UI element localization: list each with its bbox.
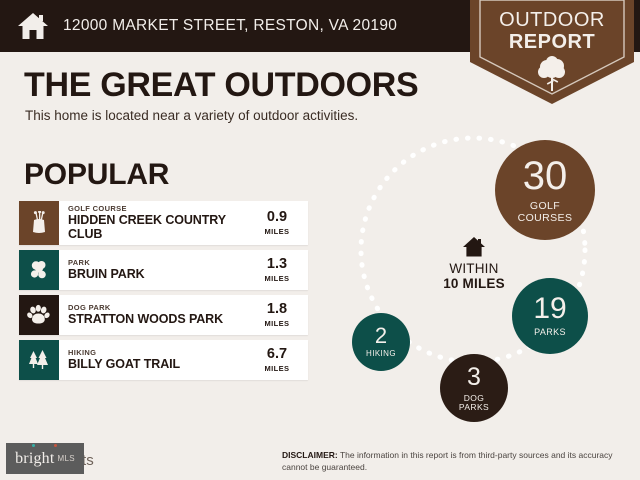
tree-icon bbox=[536, 56, 568, 92]
home-icon bbox=[409, 236, 539, 258]
list-item-distance-unit: MILES bbox=[265, 227, 290, 236]
golf-bag-icon bbox=[28, 211, 50, 235]
bubble-dog-parks[interactable]: 3 DOG PARKS bbox=[440, 354, 508, 422]
bubble-value: 30 bbox=[523, 156, 568, 196]
list-item[interactable]: HIKING BILLY GOAT TRAIL 6.7 MILES bbox=[19, 340, 308, 380]
list-item-body: DOG PARK STRATTON WOODS PARK bbox=[59, 295, 250, 335]
list-item-icon-tile bbox=[19, 295, 59, 335]
bubble-label-line-1: HIKING bbox=[366, 350, 396, 358]
bright-mls-logo: bright MLS bbox=[6, 443, 84, 474]
list-item-distance: 1.8 MILES bbox=[250, 295, 308, 335]
bubble-value: 2 bbox=[375, 325, 387, 347]
list-item[interactable]: PARK BRUIN PARK 1.3 MILES bbox=[19, 250, 308, 290]
bubble-golf-courses[interactable]: 30 GOLF COURSES bbox=[495, 140, 595, 240]
list-item-category: PARK bbox=[68, 259, 250, 267]
list-item-name: BRUIN PARK bbox=[68, 268, 250, 282]
bubble-label-line-2: COURSES bbox=[518, 213, 573, 224]
list-item-name: HIDDEN CREEK COUNTRY CLUB bbox=[68, 214, 250, 241]
list-item-body: HIKING BILLY GOAT TRAIL bbox=[59, 340, 250, 380]
page-subtitle: This home is located near a variety of o… bbox=[25, 108, 358, 123]
list-item-body: PARK BRUIN PARK bbox=[59, 250, 250, 290]
bubble-value: 19 bbox=[533, 294, 566, 324]
list-item-distance-value: 1.3 bbox=[267, 257, 287, 272]
list-item-icon-tile bbox=[19, 340, 59, 380]
list-item-category: DOG PARK bbox=[68, 304, 250, 312]
popular-list: GOLF COURSE HIDDEN CREEK COUNTRY CLUB 0.… bbox=[19, 201, 308, 385]
bubble-label-line-1: GOLF bbox=[530, 201, 560, 212]
list-item[interactable]: DOG PARK STRATTON WOODS PARK 1.8 MILES bbox=[19, 295, 308, 335]
list-item[interactable]: GOLF COURSE HIDDEN CREEK COUNTRY CLUB 0.… bbox=[19, 201, 308, 245]
disclaimer: DISCLAIMER: The information in this repo… bbox=[282, 449, 630, 474]
bubble-label-line-2: PARKS bbox=[459, 403, 489, 412]
list-item-category: GOLF COURSE bbox=[68, 205, 250, 213]
list-item-icon-tile bbox=[19, 201, 59, 245]
list-item-name: BILLY GOAT TRAIL bbox=[68, 358, 250, 372]
list-item-distance-unit: MILES bbox=[265, 274, 290, 283]
bubble-hiking[interactable]: 2 HIKING bbox=[352, 313, 410, 371]
list-item-distance: 0.9 MILES bbox=[250, 201, 308, 245]
tree-icon bbox=[28, 259, 50, 281]
list-item-distance-value: 1.8 bbox=[267, 302, 287, 317]
list-item-distance-unit: MILES bbox=[265, 364, 290, 373]
logo-dot-red-icon bbox=[54, 444, 57, 447]
page-title: THE GREAT OUTDOORS bbox=[24, 66, 418, 105]
bubble-label-line-1: PARKS bbox=[534, 328, 566, 337]
popular-heading: POPULAR bbox=[24, 158, 169, 192]
center-label-line-1: WITHIN bbox=[409, 261, 539, 276]
logo-sub-text: MLS bbox=[58, 454, 75, 463]
pine-trees-icon bbox=[27, 349, 51, 371]
header-address: 12000 MARKET STREET, RESTON, VA 20190 bbox=[63, 17, 397, 35]
list-item-distance-value: 6.7 bbox=[267, 347, 287, 362]
bubble-chart-center-label: WITHIN 10 MILES bbox=[409, 236, 539, 291]
list-item-distance: 1.3 MILES bbox=[250, 250, 308, 290]
list-item-name: STRATTON WOODS PARK bbox=[68, 313, 250, 327]
list-item-distance-value: 0.9 bbox=[267, 210, 287, 225]
paw-icon bbox=[27, 304, 51, 326]
list-item-distance-unit: MILES bbox=[265, 319, 290, 328]
outdoor-report-badge: OUTDOOR REPORT bbox=[464, 0, 640, 104]
logo-brand-text: bright bbox=[15, 450, 54, 468]
disclaimer-label: DISCLAIMER: bbox=[282, 450, 338, 460]
list-item-category: HIKING bbox=[68, 349, 250, 357]
list-item-body: GOLF COURSE HIDDEN CREEK COUNTRY CLUB bbox=[59, 201, 250, 245]
list-item-icon-tile bbox=[19, 250, 59, 290]
bubble-value: 3 bbox=[467, 365, 481, 390]
logo-dot-teal-icon bbox=[32, 444, 35, 447]
home-icon bbox=[17, 11, 49, 41]
list-item-distance: 6.7 MILES bbox=[250, 340, 308, 380]
center-label-line-2: 10 MILES bbox=[409, 276, 539, 291]
